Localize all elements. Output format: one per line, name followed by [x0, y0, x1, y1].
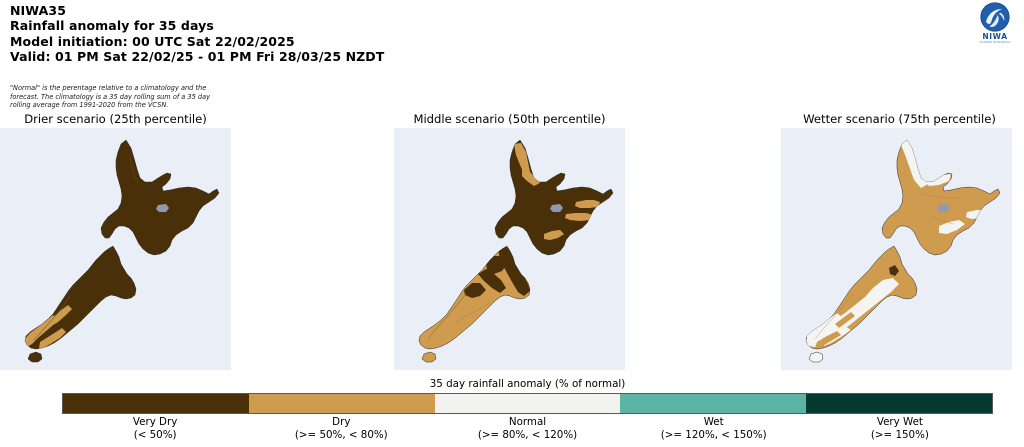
- north-island-middle: [495, 140, 613, 255]
- colorbar-title: 35 day rainfall anomaly (% of normal): [62, 378, 993, 391]
- colorbar-label-wet: Wet (>= 120%, < 150%): [621, 416, 807, 446]
- colorbar-swatch-very-wet: [806, 394, 992, 413]
- colorbar-swatch-normal: [435, 394, 621, 413]
- colorbar-label-very-wet-name: Very Wet: [807, 416, 993, 429]
- colorbar-label-dry-name: Dry: [248, 416, 434, 429]
- colorbar-label-wet-range: (>= 120%, < 150%): [621, 429, 807, 442]
- niwa-logo: NIWA TAIHORO NUKURANGI: [974, 2, 1016, 44]
- niwa-subwordmark: TAIHORO NUKURANGI: [979, 41, 1011, 44]
- colorbar-label-very-dry-name: Very Dry: [62, 416, 248, 429]
- stewart-island-wetter: [809, 352, 823, 362]
- niwa-wordmark: NIWA: [982, 32, 1007, 41]
- disclaimer-line-3: rolling average from 1991-2020 from the …: [10, 101, 250, 110]
- header-text-block: NIWA35 Rainfall anomaly for 35 days Mode…: [10, 3, 710, 65]
- colorbar-label-wet-name: Wet: [621, 416, 807, 429]
- panel-drier-scenario: Drier scenario (25th percentile): [0, 112, 231, 374]
- stewart-island-middle: [422, 352, 436, 362]
- colorbar-label-dry-range: (>= 50%, < 80%): [248, 429, 434, 442]
- colorbar-label-very-dry: Very Dry (< 50%): [62, 416, 248, 446]
- panel-title-wetter: Wetter scenario (75th percentile): [784, 112, 1015, 128]
- colorbar-label-very-wet-range: (>= 150%): [807, 429, 993, 442]
- nz-map-drier: [0, 128, 231, 370]
- colorbar-label-normal-range: (>= 80%, < 120%): [434, 429, 620, 442]
- north-island-wetter: [882, 140, 1000, 255]
- disclaimer-line-1: "Normal" is the perentage relative to a …: [10, 84, 250, 93]
- colorbar-label-very-dry-range: (< 50%): [62, 429, 248, 442]
- valid-period-text: Valid: 01 PM Sat 22/02/25 - 01 PM Fri 28…: [10, 49, 710, 64]
- map-middle-scenario: [394, 128, 625, 370]
- north-island-fill-verydry: [101, 140, 219, 255]
- south-island-middle: [419, 246, 530, 349]
- page-subtitle: Rainfall anomaly for 35 days: [10, 18, 710, 33]
- colorbar: 35 day rainfall anomaly (% of normal) Ve…: [0, 378, 1024, 447]
- south-island-wetter: [806, 246, 917, 349]
- disclaimer-text-block: "Normal" is the perentage relative to a …: [10, 84, 250, 110]
- colorbar-swatch-very-dry: [63, 394, 249, 413]
- colorbar-swatch-dry: [249, 394, 435, 413]
- map-wetter-scenario: [781, 128, 1012, 370]
- map-panel-row: Drier scenario (25th percentile): [0, 112, 1024, 374]
- model-initiation-text: Model initiation: 00 UTC Sat 22/02/2025: [10, 34, 710, 49]
- colorbar-label-normal: Normal (>= 80%, < 120%): [434, 416, 620, 446]
- disclaimer-line-2: forecast. The climatology is a 35 day ro…: [10, 93, 250, 102]
- colorbar-swatch-wet: [620, 394, 806, 413]
- panel-middle-scenario: Middle scenario (50th percentile): [394, 112, 625, 374]
- nz-map-wetter: [781, 128, 1012, 370]
- colorbar-label-dry: Dry (>= 50%, < 80%): [248, 416, 434, 446]
- nz-map-middle: [394, 128, 625, 370]
- colorbar-label-very-wet: Very Wet (>= 150%): [807, 416, 993, 446]
- stewart-island-drier: [28, 352, 42, 362]
- page-title: NIWA35: [10, 3, 710, 18]
- map-drier-scenario: [0, 128, 231, 370]
- colorbar-labels: Very Dry (< 50%) Dry (>= 50%, < 80%) Nor…: [62, 416, 993, 446]
- panel-title-drier: Drier scenario (25th percentile): [0, 112, 231, 128]
- north-island-drier: [101, 140, 219, 255]
- niwa-swirl-icon: [980, 2, 1010, 32]
- panel-wetter-scenario: Wetter scenario (75th percentile): [781, 112, 1012, 374]
- panel-title-middle: Middle scenario (50th percentile): [394, 112, 625, 128]
- colorbar-swatches: [62, 393, 993, 414]
- south-island-drier: [24, 246, 136, 349]
- colorbar-label-normal-name: Normal: [434, 416, 620, 429]
